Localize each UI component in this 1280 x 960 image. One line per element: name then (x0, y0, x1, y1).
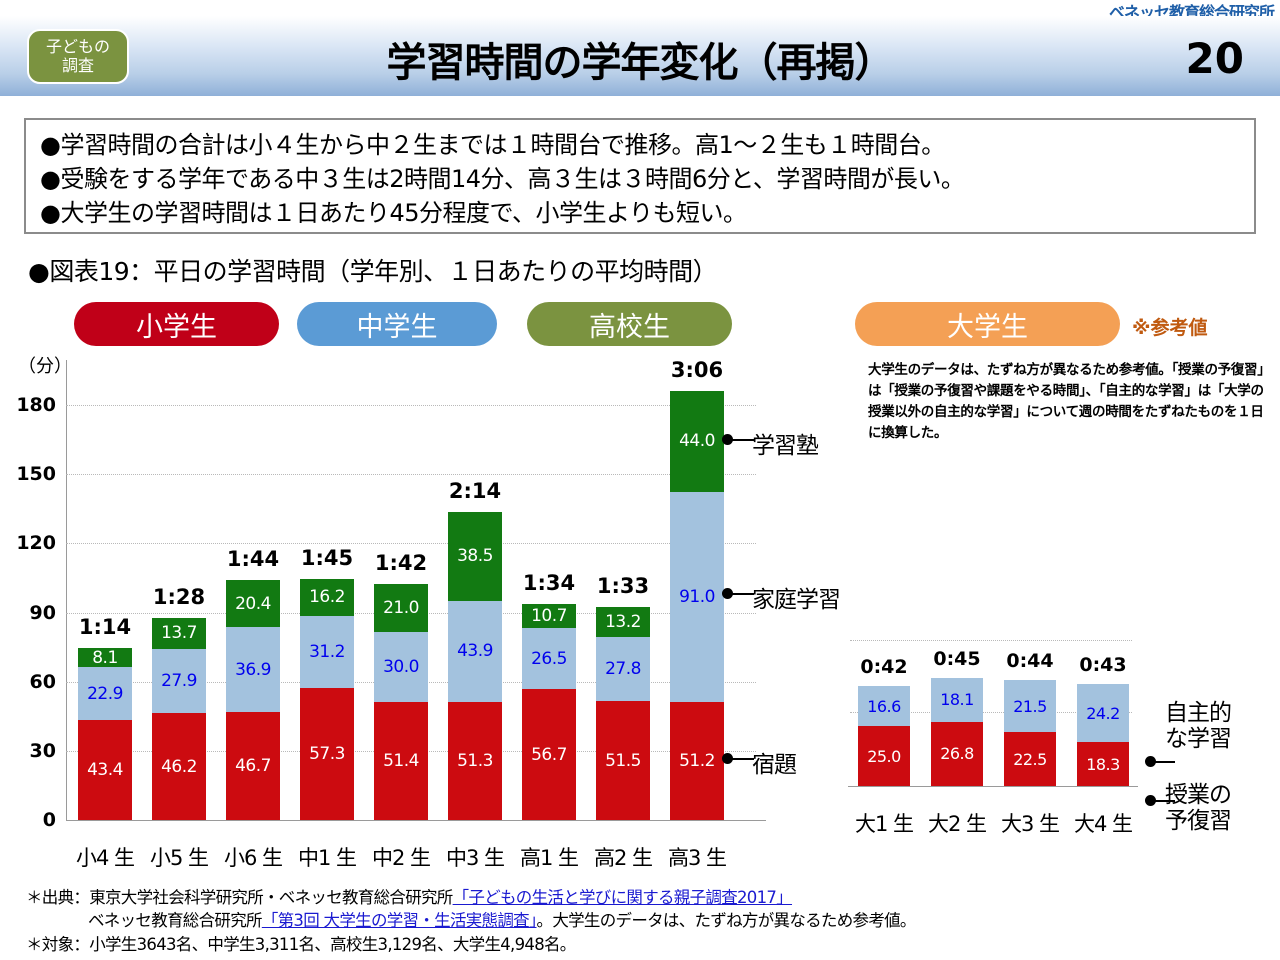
u-bar-segment-自主的な学習: 18.1 (931, 678, 983, 721)
bar-segment-学習塾: 16.2 (300, 579, 354, 616)
bar-3: 16.231.257.3 (300, 579, 354, 820)
u-bar-segment-授業の予復習: 18.3 (1077, 742, 1129, 786)
bar-segment-学習塾: 13.7 (152, 618, 206, 650)
bar-segment-宿題: 56.7 (522, 689, 576, 820)
u-bar-segment-授業の予復習: 22.5 (1004, 732, 1056, 786)
bar-segment-value: 44.0 (679, 431, 715, 451)
u-bar-3: 24.218.3 (1077, 684, 1129, 786)
u-bar-segment-自主的な学習: 24.2 (1077, 684, 1129, 742)
bar-segment-家庭学習: 27.8 (596, 637, 650, 701)
u-bar-segment-value: 24.2 (1086, 704, 1120, 723)
bar-7: 13.227.851.5 (596, 607, 650, 820)
bar-segment-学習塾: 8.1 (78, 648, 132, 667)
callout-line-juku (732, 439, 754, 441)
bar-segment-学習塾: 13.2 (596, 607, 650, 637)
u-gridline-top (850, 640, 1132, 641)
bar-6: 10.726.556.7 (522, 604, 576, 820)
bar-5: 38.543.951.3 (448, 512, 502, 820)
callout-jishu: 自主的 な学習 (1165, 700, 1231, 753)
footnote-1-text: ＊出典：東京大学社会科学研究所・ベネッセ教育総合研究所 (26, 888, 453, 907)
bar-segment-value: 22.9 (87, 684, 123, 704)
footnote-2-suffix: 。大学生のデータは、たずね方が異なるため参考値。 (537, 911, 916, 930)
bar-segment-家庭学習: 36.9 (226, 627, 280, 712)
u-bar-segment-value: 16.6 (867, 697, 901, 716)
bar-segment-宿題: 46.2 (152, 713, 206, 820)
bar-segment-value: 43.9 (457, 641, 493, 661)
bar-segment-value: 21.0 (383, 598, 419, 618)
footnotes: ＊出典：東京大学社会科学研究所・ベネッセ教育総合研究所「子どもの生活と学びに関す… (26, 886, 1266, 956)
bar-segment-宿題: 43.4 (78, 720, 132, 820)
bar-segment-家庭学習: 27.9 (152, 649, 206, 713)
bar-segment-value: 51.5 (605, 751, 641, 771)
y-axis-tick: 0 (14, 809, 56, 831)
callout-yofuku-line2: 予復習 (1165, 808, 1231, 834)
bar-segment-value: 10.7 (531, 606, 567, 626)
bar-total-label: 1:14 (55, 615, 155, 639)
bar-segment-value: 91.0 (679, 587, 715, 607)
footnote-line-1: ＊出典：東京大学社会科学研究所・ベネッセ教育総合研究所「子どもの生活と学びに関す… (26, 886, 1266, 909)
bar-segment-value: 57.3 (309, 744, 345, 764)
bar-segment-value: 26.5 (531, 649, 567, 669)
bar-segment-value: 38.5 (457, 546, 493, 566)
bar-segment-value: 36.9 (235, 660, 271, 680)
callout-juku: 学習塾 (752, 426, 818, 460)
bar-total-label: 2:14 (425, 479, 525, 503)
callout-yofuku: 授業の 予復習 (1165, 782, 1231, 835)
bar-segment-value: 46.7 (235, 756, 271, 776)
bar-segment-家庭学習: 91.0 (670, 492, 724, 702)
bar-total-label: 1:33 (573, 574, 673, 598)
bar-4: 21.030.051.4 (374, 584, 428, 820)
y-axis-tick: 90 (14, 602, 56, 624)
bar-segment-宿題: 51.5 (596, 701, 650, 820)
bar-segment-家庭学習: 43.9 (448, 601, 502, 702)
bar-segment-学習塾: 38.5 (448, 512, 502, 601)
u-bar-segment-value: 18.1 (940, 690, 974, 709)
u-bar-0: 16.625.0 (858, 686, 910, 786)
gridline (66, 405, 756, 406)
bar-segment-value: 13.2 (605, 612, 641, 632)
gridline (66, 474, 756, 475)
y-axis-ticks: 0306090120150180 (14, 0, 56, 900)
bar-segment-value: 8.1 (92, 648, 118, 668)
bar-segment-value: 20.4 (235, 594, 271, 614)
bar-segment-宿題: 51.4 (374, 702, 428, 821)
callout-line-jishu (1155, 761, 1175, 763)
bar-segment-家庭学習: 31.2 (300, 616, 354, 688)
bar-0: 8.122.943.4 (78, 648, 132, 820)
u-bar-segment-授業の予復習: 25.0 (858, 726, 910, 786)
bar-segment-学習塾: 21.0 (374, 584, 428, 632)
bar-segment-家庭学習: 22.9 (78, 667, 132, 720)
callout-line-katei (732, 593, 754, 595)
bar-segment-学習塾: 20.4 (226, 580, 280, 627)
u-bar-segment-value: 18.3 (1086, 755, 1120, 774)
bar-8: 44.091.051.2 (670, 391, 724, 820)
page-number: 20 (1186, 34, 1244, 83)
u-bar-segment-value: 25.0 (867, 747, 901, 766)
u-bar-2: 21.522.5 (1004, 680, 1056, 786)
bar-segment-value: 31.2 (309, 642, 345, 662)
y-axis-tick: 30 (14, 740, 56, 762)
callout-shukudai: 宿題 (752, 745, 796, 779)
bar-segment-value: 51.2 (679, 751, 715, 771)
x-axis-line (66, 820, 766, 821)
bar-segment-value: 27.8 (605, 659, 641, 679)
university-chart: 16.625.00:42大1 生18.126.80:45大2 生21.522.5… (840, 640, 1280, 870)
u-bar-segment-value: 26.8 (940, 744, 974, 763)
bar-total-label: 1:28 (129, 585, 229, 609)
bar-segment-宿題: 46.7 (226, 712, 280, 820)
u-x-axis-label: 大4 生 (1058, 808, 1148, 838)
y-axis-tick: 60 (14, 671, 56, 693)
callout-katei: 家庭学習 (752, 580, 840, 614)
callout-jishu-line2: な学習 (1165, 726, 1231, 752)
callout-yofuku-line1: 授業の (1165, 782, 1231, 808)
gridline (66, 543, 756, 544)
bar-segment-宿題: 57.3 (300, 688, 354, 820)
callout-jishu-line1: 自主的 (1165, 700, 1231, 726)
y-axis-tick: 180 (14, 394, 56, 416)
u-bar-segment-自主的な学習: 16.6 (858, 686, 910, 726)
bar-1: 13.727.946.2 (152, 618, 206, 820)
u-bar-1: 18.126.8 (931, 678, 983, 786)
university-description: 大学生のデータは、たずね方が異なるため参考値。「授業の予復習」は「授業の予復習や… (868, 360, 1268, 444)
footnote-2-text: ベネッセ教育総合研究所 (88, 911, 262, 930)
u-bar-segment-授業の予復習: 26.8 (931, 722, 983, 786)
u-axis-line (848, 786, 1138, 787)
bar-segment-value: 51.3 (457, 751, 493, 771)
bar-segment-宿題: 51.3 (448, 702, 502, 820)
u-bar-segment-value: 22.5 (1013, 750, 1047, 769)
u-bar-total-label: 0:43 (1053, 654, 1153, 676)
footnote-1-link[interactable]: 「子どもの生活と学びに関する親子調査2017」 (453, 888, 792, 907)
bar-segment-value: 16.2 (309, 587, 345, 607)
y-axis-tick: 120 (14, 532, 56, 554)
callout-line-shukudai (732, 758, 754, 760)
bar-segment-value: 46.2 (161, 757, 197, 777)
bar-total-label: 3:06 (647, 358, 747, 382)
bar-segment-value: 56.7 (531, 745, 567, 765)
u-bar-segment-value: 21.5 (1013, 697, 1047, 716)
bar-2: 20.436.946.7 (226, 580, 280, 820)
footnote-line-3: ＊対象：小学生3643名、中学生3,311名、高校生3,129名、大学生4,94… (26, 933, 1266, 956)
bar-segment-value: 30.0 (383, 657, 419, 677)
bar-total-label: 1:42 (351, 551, 451, 575)
bar-segment-value: 13.7 (161, 623, 197, 643)
bar-segment-家庭学習: 30.0 (374, 632, 428, 701)
bar-segment-宿題: 51.2 (670, 702, 724, 820)
footnote-2-link[interactable]: 「第3回 大学生の学習・生活実態調査」 (262, 911, 537, 930)
category-pill-university: 大学生 (855, 302, 1120, 346)
y-axis-tick: 150 (14, 463, 56, 485)
bar-segment-学習塾: 44.0 (670, 391, 724, 492)
reference-value-note: ※参考値 (1132, 313, 1207, 340)
footnote-line-2: ベネッセ教育総合研究所「第3回 大学生の学習・生活実態調査」。大学生のデータは、… (26, 909, 1266, 932)
bar-segment-value: 51.4 (383, 751, 419, 771)
bar-segment-value: 27.9 (161, 671, 197, 691)
u-bar-segment-自主的な学習: 21.5 (1004, 680, 1056, 732)
main-school-chart: （分） 0306090120150180 8.122.943.41:14小4 生… (0, 0, 820, 900)
x-axis-label: 高3 生 (647, 842, 747, 872)
bar-segment-学習塾: 10.7 (522, 604, 576, 629)
bar-segment-家庭学習: 26.5 (522, 628, 576, 689)
bar-segment-value: 43.4 (87, 760, 123, 780)
